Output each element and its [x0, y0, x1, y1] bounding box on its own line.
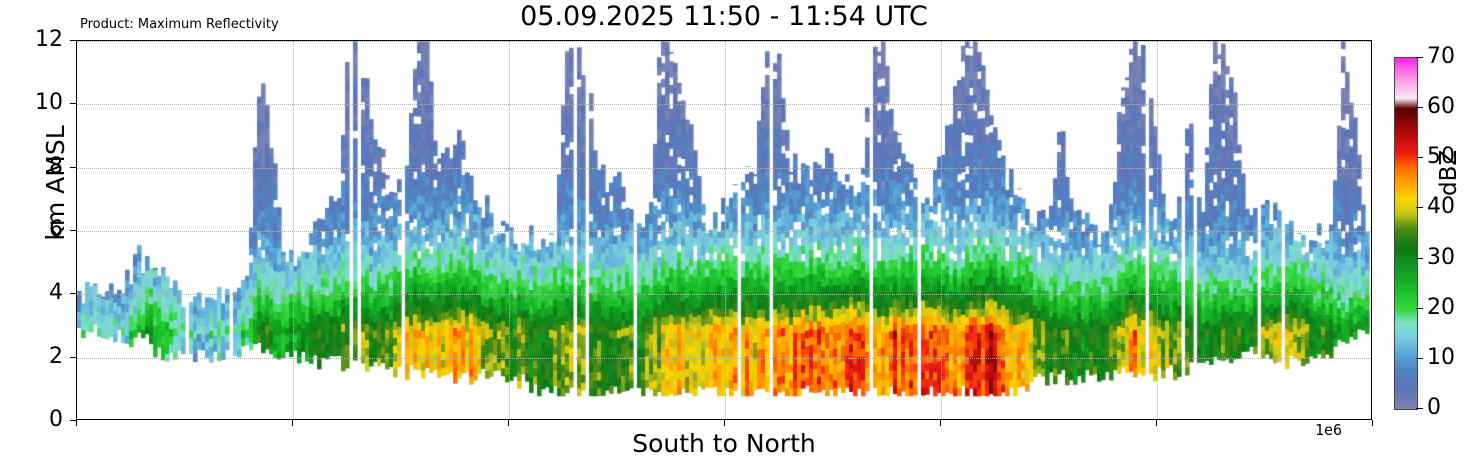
y-tick-mark-6 — [70, 230, 76, 231]
y-tick-label-0: 0 — [0, 409, 63, 431]
colorbar-tick-mark-20 — [1416, 308, 1423, 309]
y-tick-label-2: 2 — [0, 346, 63, 368]
x-tick-mark-0 — [76, 420, 77, 426]
colorbar-tick-label-30: 30 — [1427, 247, 1455, 269]
y-tick-mark-12 — [70, 40, 76, 41]
product-label: Product: Maximum Reflectivity — [80, 17, 279, 32]
colorbar-tick-label-60: 60 — [1427, 96, 1455, 118]
x-tick-mark-6 — [1372, 420, 1373, 426]
x-tick-mark-2 — [508, 420, 509, 426]
y-tick-label-10: 10 — [0, 92, 63, 114]
x-tick-mark-5 — [1156, 420, 1157, 426]
colorbar-tick-mark-50 — [1416, 157, 1423, 158]
colorbar-tick-mark-30 — [1416, 258, 1423, 259]
colorbar-gradient — [1394, 57, 1418, 410]
y-tick-mark-10 — [70, 103, 76, 104]
colorbar-tick-label-40: 40 — [1427, 196, 1455, 218]
y-tick-mark-2 — [70, 357, 76, 358]
y-tick-mark-8 — [70, 167, 76, 168]
radar-cross-section-figure: 05.09.2025 11:50 - 11:54 UTC Product: Ma… — [0, 0, 1482, 470]
x-tick-mark-4 — [940, 420, 941, 426]
y-tick-mark-4 — [70, 293, 76, 294]
colorbar-tick-mark-70 — [1416, 57, 1423, 58]
y-tick-label-6: 6 — [0, 219, 63, 241]
y-tick-label-12: 12 — [0, 29, 63, 51]
plot-area — [76, 40, 1372, 420]
reflectivity-heatmap — [77, 41, 1372, 420]
colorbar-tick-mark-60 — [1416, 107, 1423, 108]
colorbar-tick-label-10: 10 — [1427, 347, 1455, 369]
colorbar-tick-label-70: 70 — [1427, 46, 1455, 68]
colorbar-tick-mark-0 — [1416, 408, 1423, 409]
colorbar-label: dBZ — [1437, 126, 1461, 196]
colorbar-tick-label-0: 0 — [1427, 397, 1441, 419]
y-tick-label-8: 8 — [0, 156, 63, 178]
x-tick-mark-3 — [724, 420, 725, 426]
colorbar-tick-label-20: 20 — [1427, 297, 1455, 319]
y-tick-label-4: 4 — [0, 282, 63, 304]
x-axis-label: South to North — [76, 430, 1372, 458]
x-axis-offset-label: 1e6 — [1315, 422, 1342, 439]
colorbar-tick-mark-40 — [1416, 207, 1423, 208]
colorbar-tick-mark-10 — [1416, 358, 1423, 359]
x-tick-mark-1 — [292, 420, 293, 426]
colorbar: 010203040506070 — [1394, 57, 1416, 408]
